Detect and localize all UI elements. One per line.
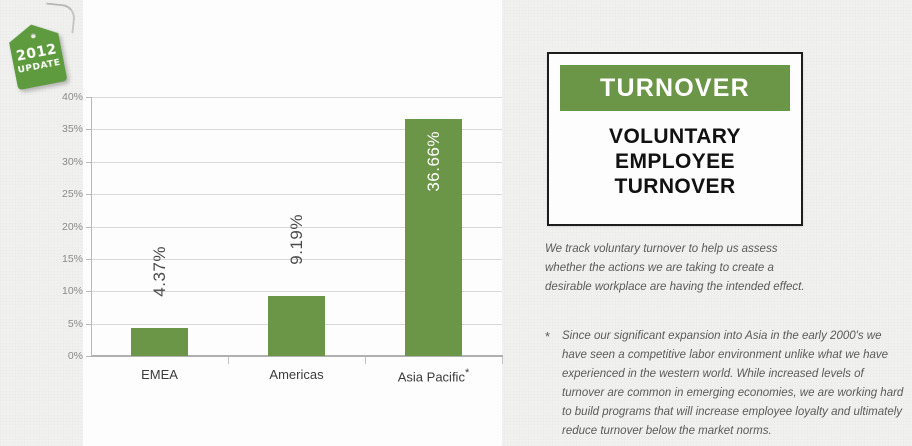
y-axis-tick-mark — [86, 162, 91, 163]
y-axis-tick-mark — [86, 97, 91, 98]
footnote-asterisk: * — [465, 367, 469, 379]
panel-body-text: We track voluntary turnover to help us a… — [545, 240, 817, 297]
y-axis-tick-mark — [86, 324, 91, 325]
title-box: TURNOVER VOLUNTARY EMPLOYEE TURNOVER — [547, 52, 803, 226]
bar-value-label: 4.37% — [150, 246, 170, 297]
y-axis-tick-label: 20% — [49, 221, 83, 233]
bar-value-label: 36.66% — [424, 131, 444, 192]
y-axis-tick-label: 30% — [49, 156, 83, 168]
category-label: Americas — [228, 367, 365, 382]
title-subtitle: VOLUNTARY EMPLOYEE TURNOVER — [549, 124, 801, 199]
x-axis-tick-mark — [228, 357, 229, 364]
y-axis-tick-label: 10% — [49, 285, 83, 297]
y-axis-line — [91, 97, 92, 356]
bar — [131, 328, 188, 356]
y-axis-tick-label: 25% — [49, 188, 83, 200]
y-axis-tick-label: 15% — [49, 253, 83, 265]
footnote-marker: * — [545, 327, 550, 346]
y-axis-tick-mark — [86, 227, 91, 228]
category-label: Asia Pacific* — [365, 367, 502, 384]
panel-footnote: * Since our significant expansion into A… — [545, 327, 905, 441]
title-banner: TURNOVER — [560, 65, 790, 111]
y-axis-tick-label: 35% — [49, 123, 83, 135]
y-axis-tick-mark — [86, 291, 91, 292]
x-axis-tick-mark — [365, 357, 366, 364]
subtitle-line-3: TURNOVER — [549, 174, 801, 199]
footnote-text: Since our significant expansion into Asi… — [562, 327, 905, 441]
y-axis-tick-mark — [86, 129, 91, 130]
y-axis-tick-mark — [86, 194, 91, 195]
subtitle-line-1: VOLUNTARY — [549, 124, 801, 149]
x-axis-tick-mark — [502, 357, 503, 364]
banner-title-text: TURNOVER — [600, 74, 750, 103]
bar — [268, 296, 325, 356]
bar-value-label: 9.19% — [287, 214, 307, 265]
y-axis-tick-mark — [86, 259, 91, 260]
y-axis-tick-label: 5% — [49, 318, 83, 330]
gridline — [91, 97, 502, 98]
category-label: EMEA — [91, 367, 228, 382]
y-axis-tick-label: 40% — [49, 91, 83, 103]
subtitle-line-2: EMPLOYEE — [549, 149, 801, 174]
y-axis-tick-label: 0% — [49, 350, 83, 362]
y-axis-tick-mark — [86, 356, 91, 357]
